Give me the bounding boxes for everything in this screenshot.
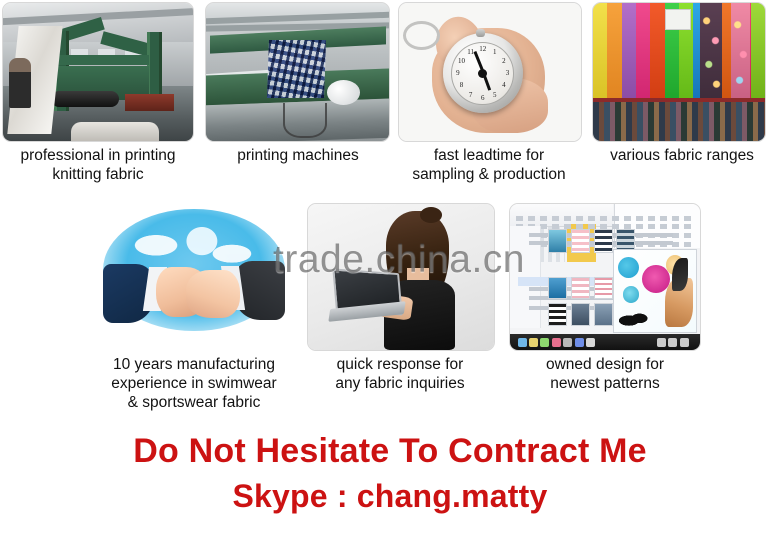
scene-printing-machine-fabric bbox=[206, 3, 389, 141]
swatch-thumbnail[interactable] bbox=[594, 303, 613, 325]
photo-fast-leadtime[interactable]: 12 1 2 3 4 5 6 7 8 9 10 11 bbox=[398, 2, 582, 142]
caption-owned-design: owned design for newest patterns bbox=[515, 355, 695, 393]
swatch-thumbnail[interactable] bbox=[548, 229, 567, 253]
caption-fabric-ranges: various fabric ranges bbox=[586, 146, 778, 165]
photo-printing-machines[interactable] bbox=[205, 2, 390, 142]
stopwatch-icon: 12 1 2 3 4 5 6 7 8 9 10 11 bbox=[443, 33, 523, 113]
photo-quick-response[interactable] bbox=[307, 203, 495, 351]
photo-manufacturing-experience[interactable] bbox=[95, 203, 293, 349]
swatch-thumbnail[interactable] bbox=[571, 229, 590, 253]
caption-quick-response: quick response for any fabric inquiries bbox=[312, 355, 488, 393]
caption-manufacturing-experience: 10 years manufacturing experience in swi… bbox=[92, 355, 296, 412]
cta-headline: Do Not Hesitate To Contract Me bbox=[0, 432, 780, 471]
taskbar[interactable] bbox=[510, 334, 700, 350]
scene-colorful-fabric-rolls bbox=[593, 3, 765, 141]
swatch-thumbnail[interactable] bbox=[571, 303, 590, 325]
swatch-thumbnail[interactable] bbox=[548, 277, 567, 299]
photo-printing-knitting-fabric[interactable] bbox=[2, 2, 194, 142]
collage-page: professional in printing knitting fabric… bbox=[0, 0, 780, 537]
caption-fast-leadtime: fast leadtime for sampling & production bbox=[393, 146, 585, 184]
scene-handshake-globe bbox=[95, 203, 293, 349]
scene-design-software-window bbox=[510, 204, 700, 350]
caption-printing-knitting-fabric: professional in printing knitting fabric bbox=[0, 146, 196, 184]
caption-printing-machines: printing machines bbox=[200, 146, 396, 165]
swatch-thumbnail[interactable] bbox=[594, 277, 613, 299]
photo-owned-design[interactable] bbox=[509, 203, 701, 351]
cta-skype: Skype : chang.matty bbox=[0, 478, 780, 515]
scene-factory-printing-machine bbox=[3, 3, 193, 141]
swatch-thumbnail[interactable] bbox=[548, 303, 567, 325]
photo-fabric-ranges[interactable] bbox=[592, 2, 766, 142]
scene-hand-stopwatch: 12 1 2 3 4 5 6 7 8 9 10 11 bbox=[399, 3, 581, 141]
swatch-thumbnail[interactable] bbox=[594, 229, 613, 253]
scene-woman-with-laptop bbox=[308, 204, 494, 350]
design-canvas[interactable] bbox=[613, 249, 697, 333]
swatch-thumbnail[interactable] bbox=[571, 277, 590, 299]
